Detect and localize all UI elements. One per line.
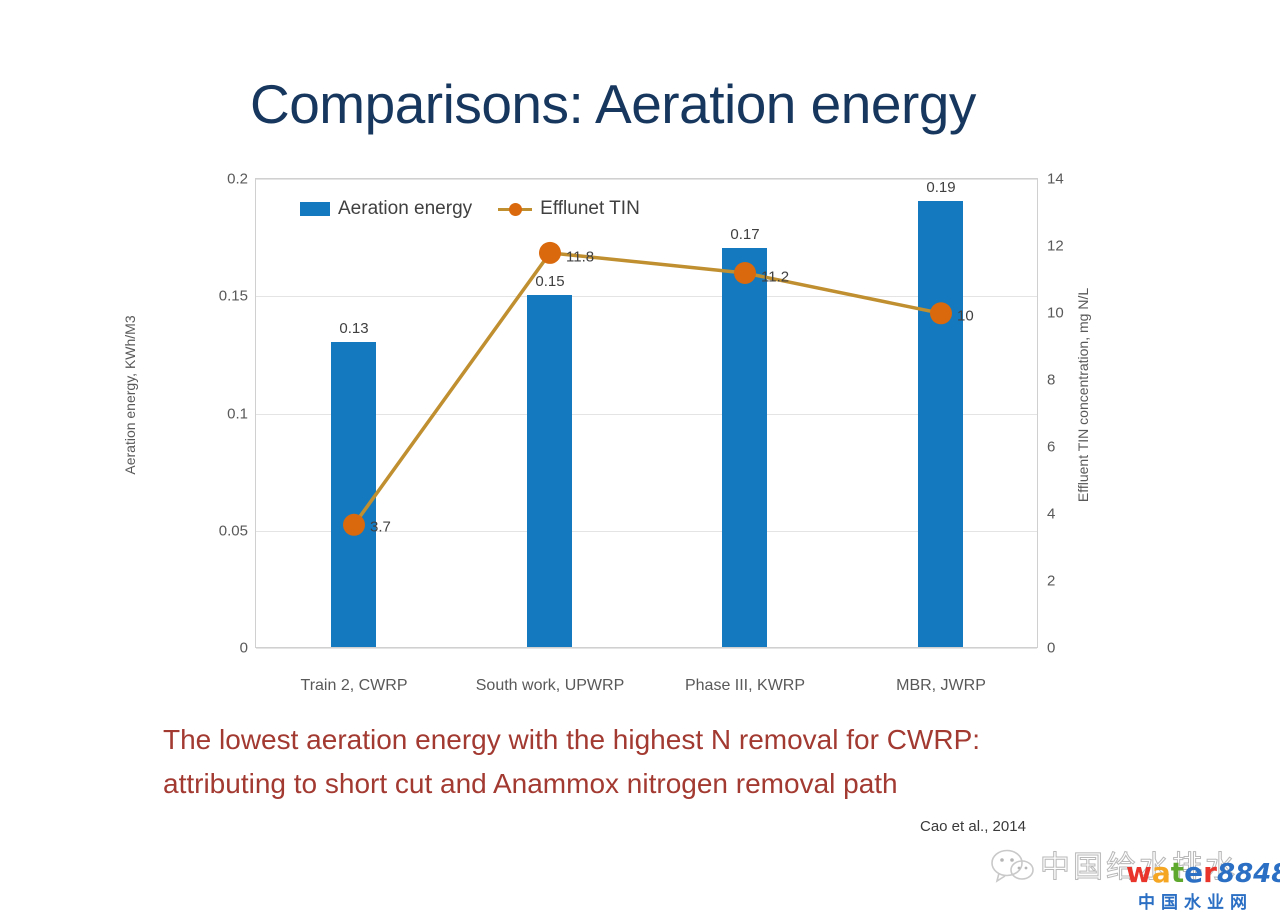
y-tick-label-right: 10 [1047,305,1064,322]
bar-aeration-energy-1[interactable] [527,295,572,648]
gridline: 0 [256,648,1037,649]
legend-item-aeration-energy[interactable]: Aeration energy [300,198,472,220]
plot-area: 0.2 0.15 0.1 0.05 0 14 12 10 8 6 4 2 0 0… [255,178,1038,648]
bar-aeration-energy-3[interactable] [918,201,963,648]
y-tick-label-right: 6 [1047,439,1055,456]
y-tick-label-left: 0.05 [219,523,248,540]
wechat-icon [990,848,1034,884]
page-title: Comparisons: Aeration energy [250,68,1050,140]
effluent-tin-point-1 [539,242,561,264]
bar-value-label-2: 0.17 [730,226,759,243]
bar-value-label-0: 0.13 [339,320,368,337]
watermark: 中国给水排水 water8848.com 中国水业网 [988,820,1280,904]
watermark-subtitle-cn: 中国水业网 [1138,888,1253,913]
legend-item-effluent-tin[interactable]: Efflunet TIN [498,198,640,220]
bar-aeration-energy-0[interactable] [331,342,376,648]
bar-value-label-3: 0.19 [926,179,955,196]
logo-number: 8848 [1217,859,1280,889]
legend-label-aeration-energy: Aeration energy [338,198,472,220]
legend-line-swatch-icon [498,202,532,216]
caption-line-2: attributing to short cut and Anammox nit… [163,762,1123,806]
logo-letter-e: e [1184,856,1203,889]
y-tick-label-right: 2 [1047,573,1055,590]
chart-container: Aeration energy, KWh/M3 Effluent TIN con… [170,160,1120,700]
caption-line-1: The lowest aeration energy with the high… [163,718,1123,762]
y-tick-label-right: 0 [1047,640,1055,657]
logo-letter-t: t [1171,856,1184,889]
bar-value-label-1: 0.15 [535,273,564,290]
line-value-label-3: 10 [957,308,974,325]
slide-canvas: Comparisons: Aeration energy Aeration en… [0,0,1280,904]
y-tick-label-right: 14 [1047,171,1064,188]
y-tick-label-left: 0 [240,640,248,657]
x-tick-label-2: Phase III, KWRP [685,677,805,695]
y-tick-label-left: 0.2 [227,171,248,188]
y-tick-label-right: 4 [1047,506,1055,523]
logo-letter-w: w [1126,856,1152,889]
y-axis-right-title: Effluent TIN concentration, mg N/L [1075,288,1091,502]
y-tick-label-right: 8 [1047,372,1055,389]
line-value-label-2: 11.2 [761,269,789,286]
chart-legend: Aeration energy Efflunet TIN [300,198,640,220]
logo-letter-a: a [1152,856,1171,889]
y-tick-label-left: 0.15 [219,288,248,305]
y-tick-label-right: 12 [1047,238,1064,255]
bar-aeration-energy-2[interactable] [722,248,767,648]
legend-label-effluent-tin: Efflunet TIN [540,198,640,220]
x-tick-label-1: South work, UPWRP [476,677,624,695]
x-tick-label-3: MBR, JWRP [896,677,986,695]
x-tick-label-0: Train 2, CWRP [301,677,408,695]
effluent-tin-line [354,253,941,525]
logo-letter-r: r [1203,856,1217,889]
line-value-label-0: 3.7 [370,519,391,536]
y-axis-left-title: Aeration energy, KWh/M3 [122,315,138,474]
legend-bar-swatch-icon [300,202,330,216]
line-value-label-1: 11.8 [566,249,594,266]
gridline: 0.2 [256,179,1037,180]
slide-caption: The lowest aeration energy with the high… [163,718,1123,806]
y-tick-label-left: 0.1 [227,406,248,423]
